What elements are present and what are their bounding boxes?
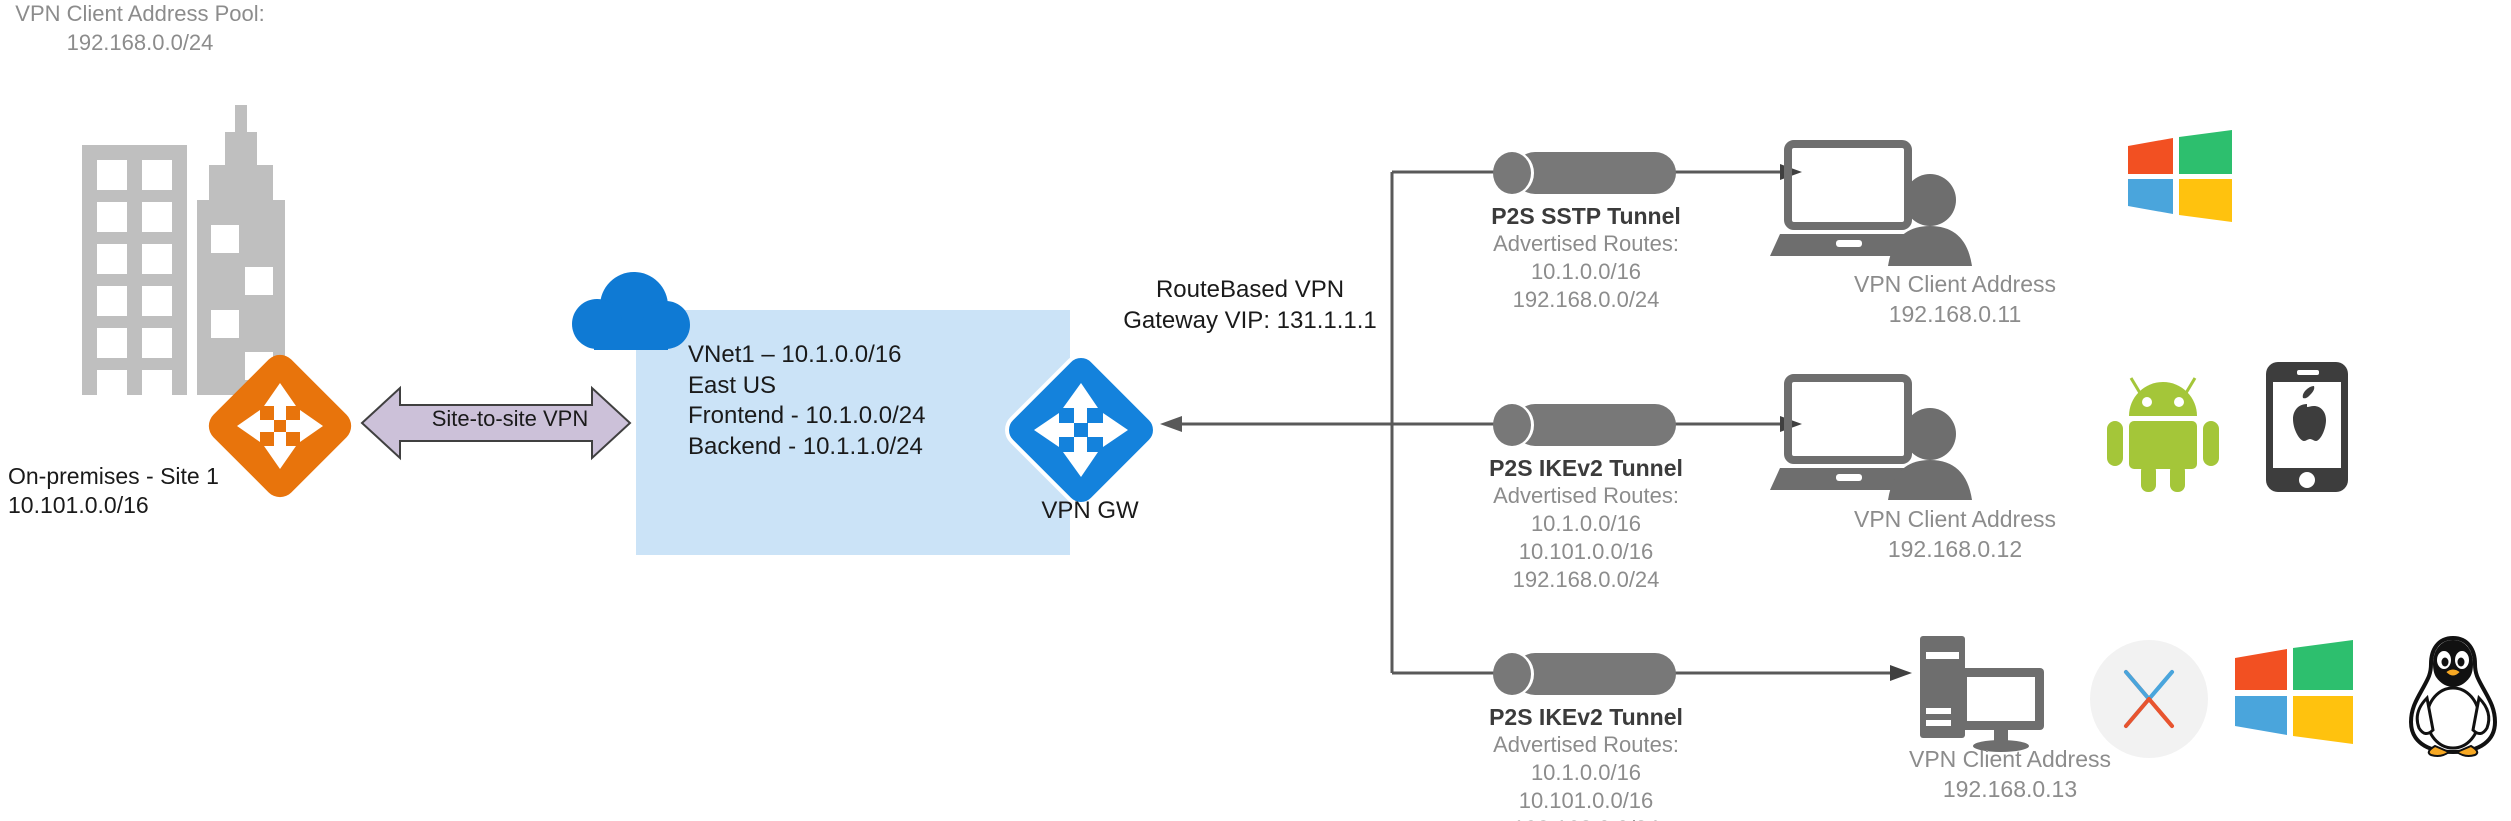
linux-tux-icon <box>2405 636 2501 756</box>
macos-x-logo-icon <box>2090 640 2208 758</box>
android-logo-icon <box>2105 372 2221 484</box>
tunnel-3-title: P2S IKEv2 Tunnel <box>1406 704 1766 731</box>
tunnel-1-title: P2S SSTP Tunnel <box>1406 203 1766 230</box>
laptop-user-icon <box>1780 138 1990 266</box>
laptop-user-icon <box>1780 372 1990 500</box>
tunnel-2-title: P2S IKEv2 Tunnel <box>1406 455 1766 482</box>
windows-logo-icon <box>2128 130 2232 222</box>
tunnel-cylinder-icon <box>1492 400 1680 450</box>
diagram-canvas: On-premises - Site 1 10.101.0.0/16 Site-… <box>0 0 2511 821</box>
windows-logo-icon <box>2235 640 2353 744</box>
iphone-apple-icon <box>2266 362 2348 492</box>
desktop-workstation-icon <box>1920 636 2050 752</box>
client-1-address-label: VPN Client Address 192.168.0.11 <box>1790 270 2120 330</box>
tunnel-3-routes: Advertised Routes: 10.1.0.0/16 10.101.0.… <box>1406 731 1766 821</box>
tunnel-2-routes: Advertised Routes: 10.1.0.0/16 10.101.0.… <box>1406 482 1766 595</box>
tunnel-cylinder-icon <box>1492 148 1680 198</box>
tunnel-cylinder-icon <box>1492 649 1680 699</box>
tunnel-1-routes: Advertised Routes: 10.1.0.0/16 192.168.0… <box>1406 230 1766 314</box>
client-2-address-label: VPN Client Address 192.168.0.12 <box>1790 505 2120 565</box>
